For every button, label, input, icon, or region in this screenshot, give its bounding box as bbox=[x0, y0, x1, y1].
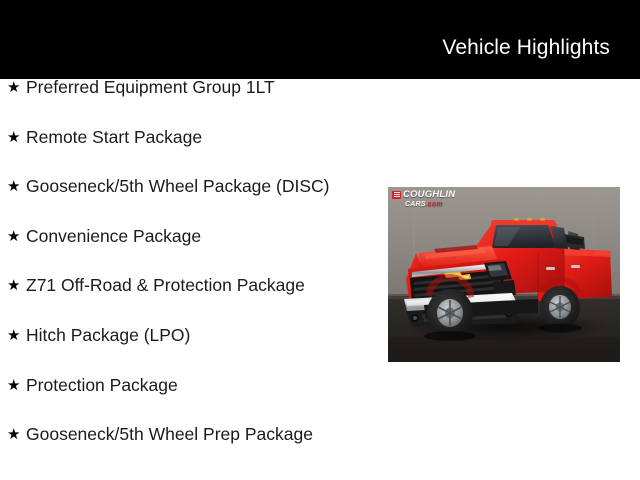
list-item-label: Remote Start Package bbox=[26, 129, 380, 147]
list-item-label: Preferred Equipment Group 1LT bbox=[26, 79, 380, 97]
list-item: ★ Preferred Equipment Group 1LT bbox=[0, 79, 380, 129]
list-item-label: Gooseneck/5th Wheel Package (DISC) bbox=[26, 178, 380, 196]
star-icon: ★ bbox=[7, 130, 26, 145]
star-icon: ★ bbox=[7, 229, 26, 244]
list-item: ★ Protection Package bbox=[0, 377, 380, 427]
star-icon: ★ bbox=[7, 427, 26, 442]
list-item-label: Protection Package bbox=[26, 377, 380, 395]
vehicle-photo: COUGHLIN CARS.com bbox=[388, 187, 620, 362]
star-icon: ★ bbox=[7, 278, 26, 293]
list-item: ★ Remote Start Package bbox=[0, 129, 380, 179]
star-icon: ★ bbox=[7, 80, 26, 95]
vehicle-highlights-page: Vehicle Highlights ★ Preferred Equipment… bbox=[0, 0, 640, 480]
vehicle-photo-image bbox=[388, 187, 620, 362]
list-item: ★ Convenience Package bbox=[0, 228, 380, 278]
star-icon: ★ bbox=[7, 378, 26, 393]
list-item: ★ Gooseneck/5th Wheel Prep Package bbox=[0, 426, 380, 476]
list-item-label: Hitch Package (LPO) bbox=[26, 327, 380, 345]
star-icon: ★ bbox=[7, 328, 26, 343]
list-item: ★ Hitch Package (LPO) bbox=[0, 327, 380, 377]
list-item: ★ Z71 Off-Road & Protection Package bbox=[0, 277, 380, 327]
list-item: ★ Gooseneck/5th Wheel Package (DISC) bbox=[0, 178, 380, 228]
list-item-label: Convenience Package bbox=[26, 228, 380, 246]
header-bar: Vehicle Highlights bbox=[0, 0, 640, 79]
list-item-label: Gooseneck/5th Wheel Prep Package bbox=[26, 426, 380, 444]
vehicle-highlights-list: ★ Preferred Equipment Group 1LT ★ Remote… bbox=[0, 79, 380, 476]
page-title: Vehicle Highlights bbox=[442, 21, 640, 58]
star-icon: ★ bbox=[7, 179, 26, 194]
list-item-label: Z71 Off-Road & Protection Package bbox=[26, 277, 380, 295]
